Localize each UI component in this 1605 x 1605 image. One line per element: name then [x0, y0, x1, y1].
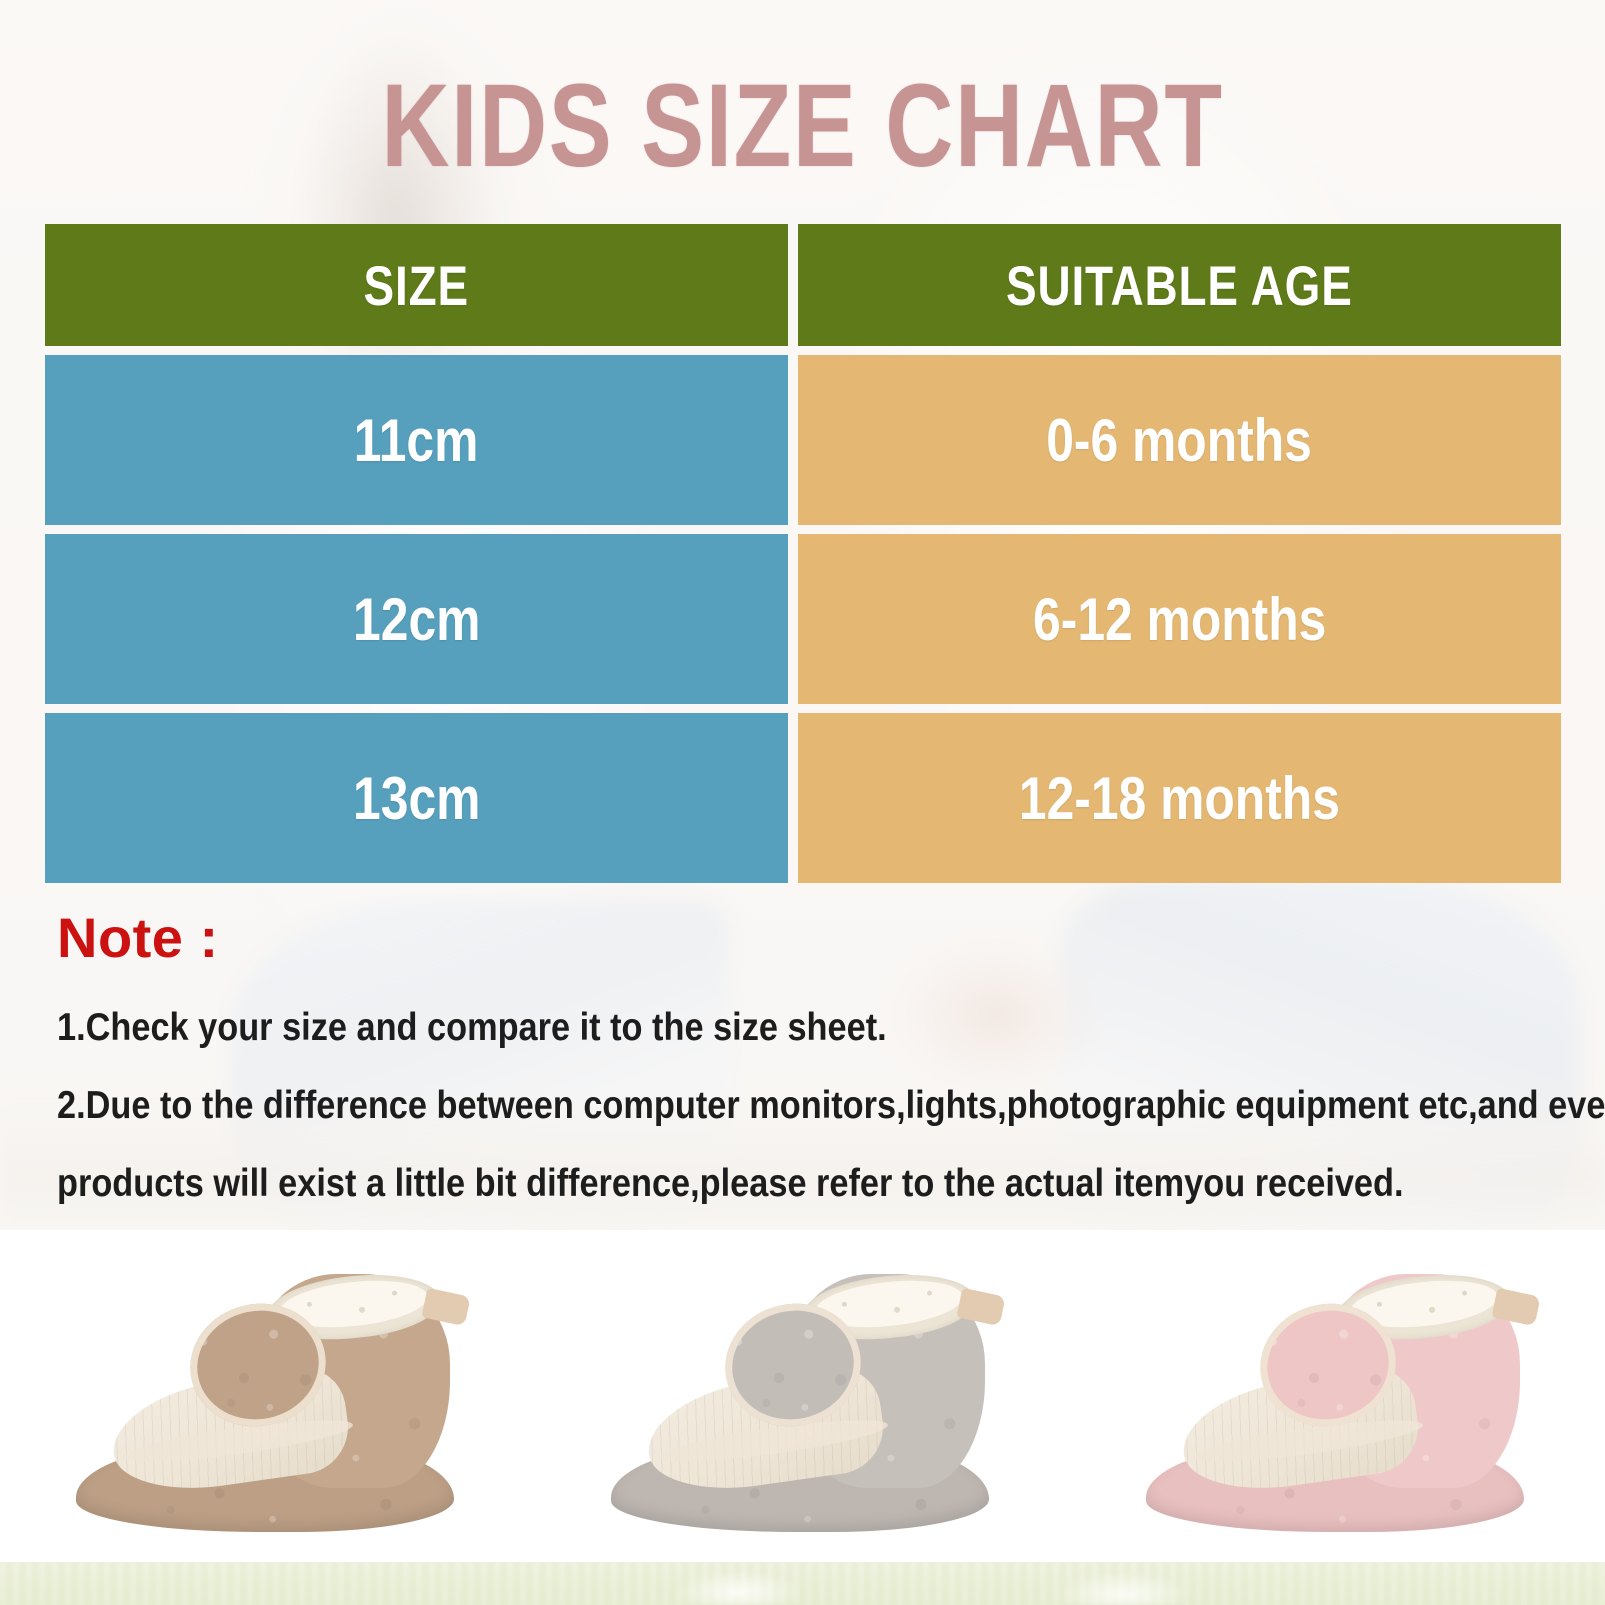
product-image-camel [0, 1230, 535, 1562]
table-row: 12cm 6-12 months [45, 534, 1561, 704]
product-image-pink [1070, 1230, 1605, 1562]
note-section: Note : 1.Check your size and compare it … [57, 905, 1557, 1223]
note-line-2: 2.Due to the difference between computer… [57, 1067, 1557, 1145]
header-label-size: SIZE [364, 253, 469, 318]
header-label-suitable-age: SUITABLE AGE [1006, 253, 1353, 318]
cell-size-3: 13cm [45, 713, 788, 883]
note-line-1-text: 1.Check your size and compare it to the … [57, 989, 887, 1067]
product-image-grey [535, 1230, 1070, 1562]
cell-age-3: 12-18 months [798, 713, 1561, 883]
cell-size-2: 12cm [45, 534, 788, 704]
value-age-3: 12-18 months [1019, 764, 1340, 833]
note-line-3: products will exist a little bit differe… [57, 1145, 1557, 1223]
baby-bootie-pink-illustration [1138, 1252, 1538, 1552]
size-chart-table: SIZE SUITABLE AGE 11cm 0-6 months 12cm 6… [45, 224, 1561, 883]
table-row: 11cm 0-6 months [45, 355, 1561, 525]
cell-size-1: 11cm [45, 355, 788, 525]
table-header-row: SIZE SUITABLE AGE [45, 224, 1561, 346]
page-title: KIDS SIZE CHART [161, 62, 1445, 190]
kids-size-chart-page: KIDS SIZE CHART SIZE SUITABLE AGE 11cm 0… [0, 0, 1605, 1605]
baby-bootie-grey-illustration [603, 1252, 1003, 1552]
header-cell-size: SIZE [45, 224, 788, 346]
header-cell-suitable-age: SUITABLE AGE [798, 224, 1561, 346]
note-line-1: 1.Check your size and compare it to the … [57, 989, 1557, 1067]
value-size-1: 11cm [354, 406, 479, 475]
baby-bootie-camel-illustration [68, 1252, 468, 1552]
note-line-3-text: products will exist a little bit differe… [57, 1145, 1404, 1223]
cell-age-1: 0-6 months [798, 355, 1561, 525]
product-image-strip [0, 1230, 1605, 1562]
note-heading: Note : [57, 905, 1557, 971]
cell-age-2: 6-12 months [798, 534, 1561, 704]
table-row: 13cm 12-18 months [45, 713, 1561, 883]
value-age-2: 6-12 months [1033, 585, 1326, 654]
value-size-2: 12cm [353, 585, 480, 654]
background-bottom-strip [0, 1562, 1605, 1605]
note-line-2-text: 2.Due to the difference between computer… [57, 1067, 1605, 1145]
value-age-1: 0-6 months [1047, 406, 1313, 475]
value-size-3: 13cm [353, 764, 480, 833]
